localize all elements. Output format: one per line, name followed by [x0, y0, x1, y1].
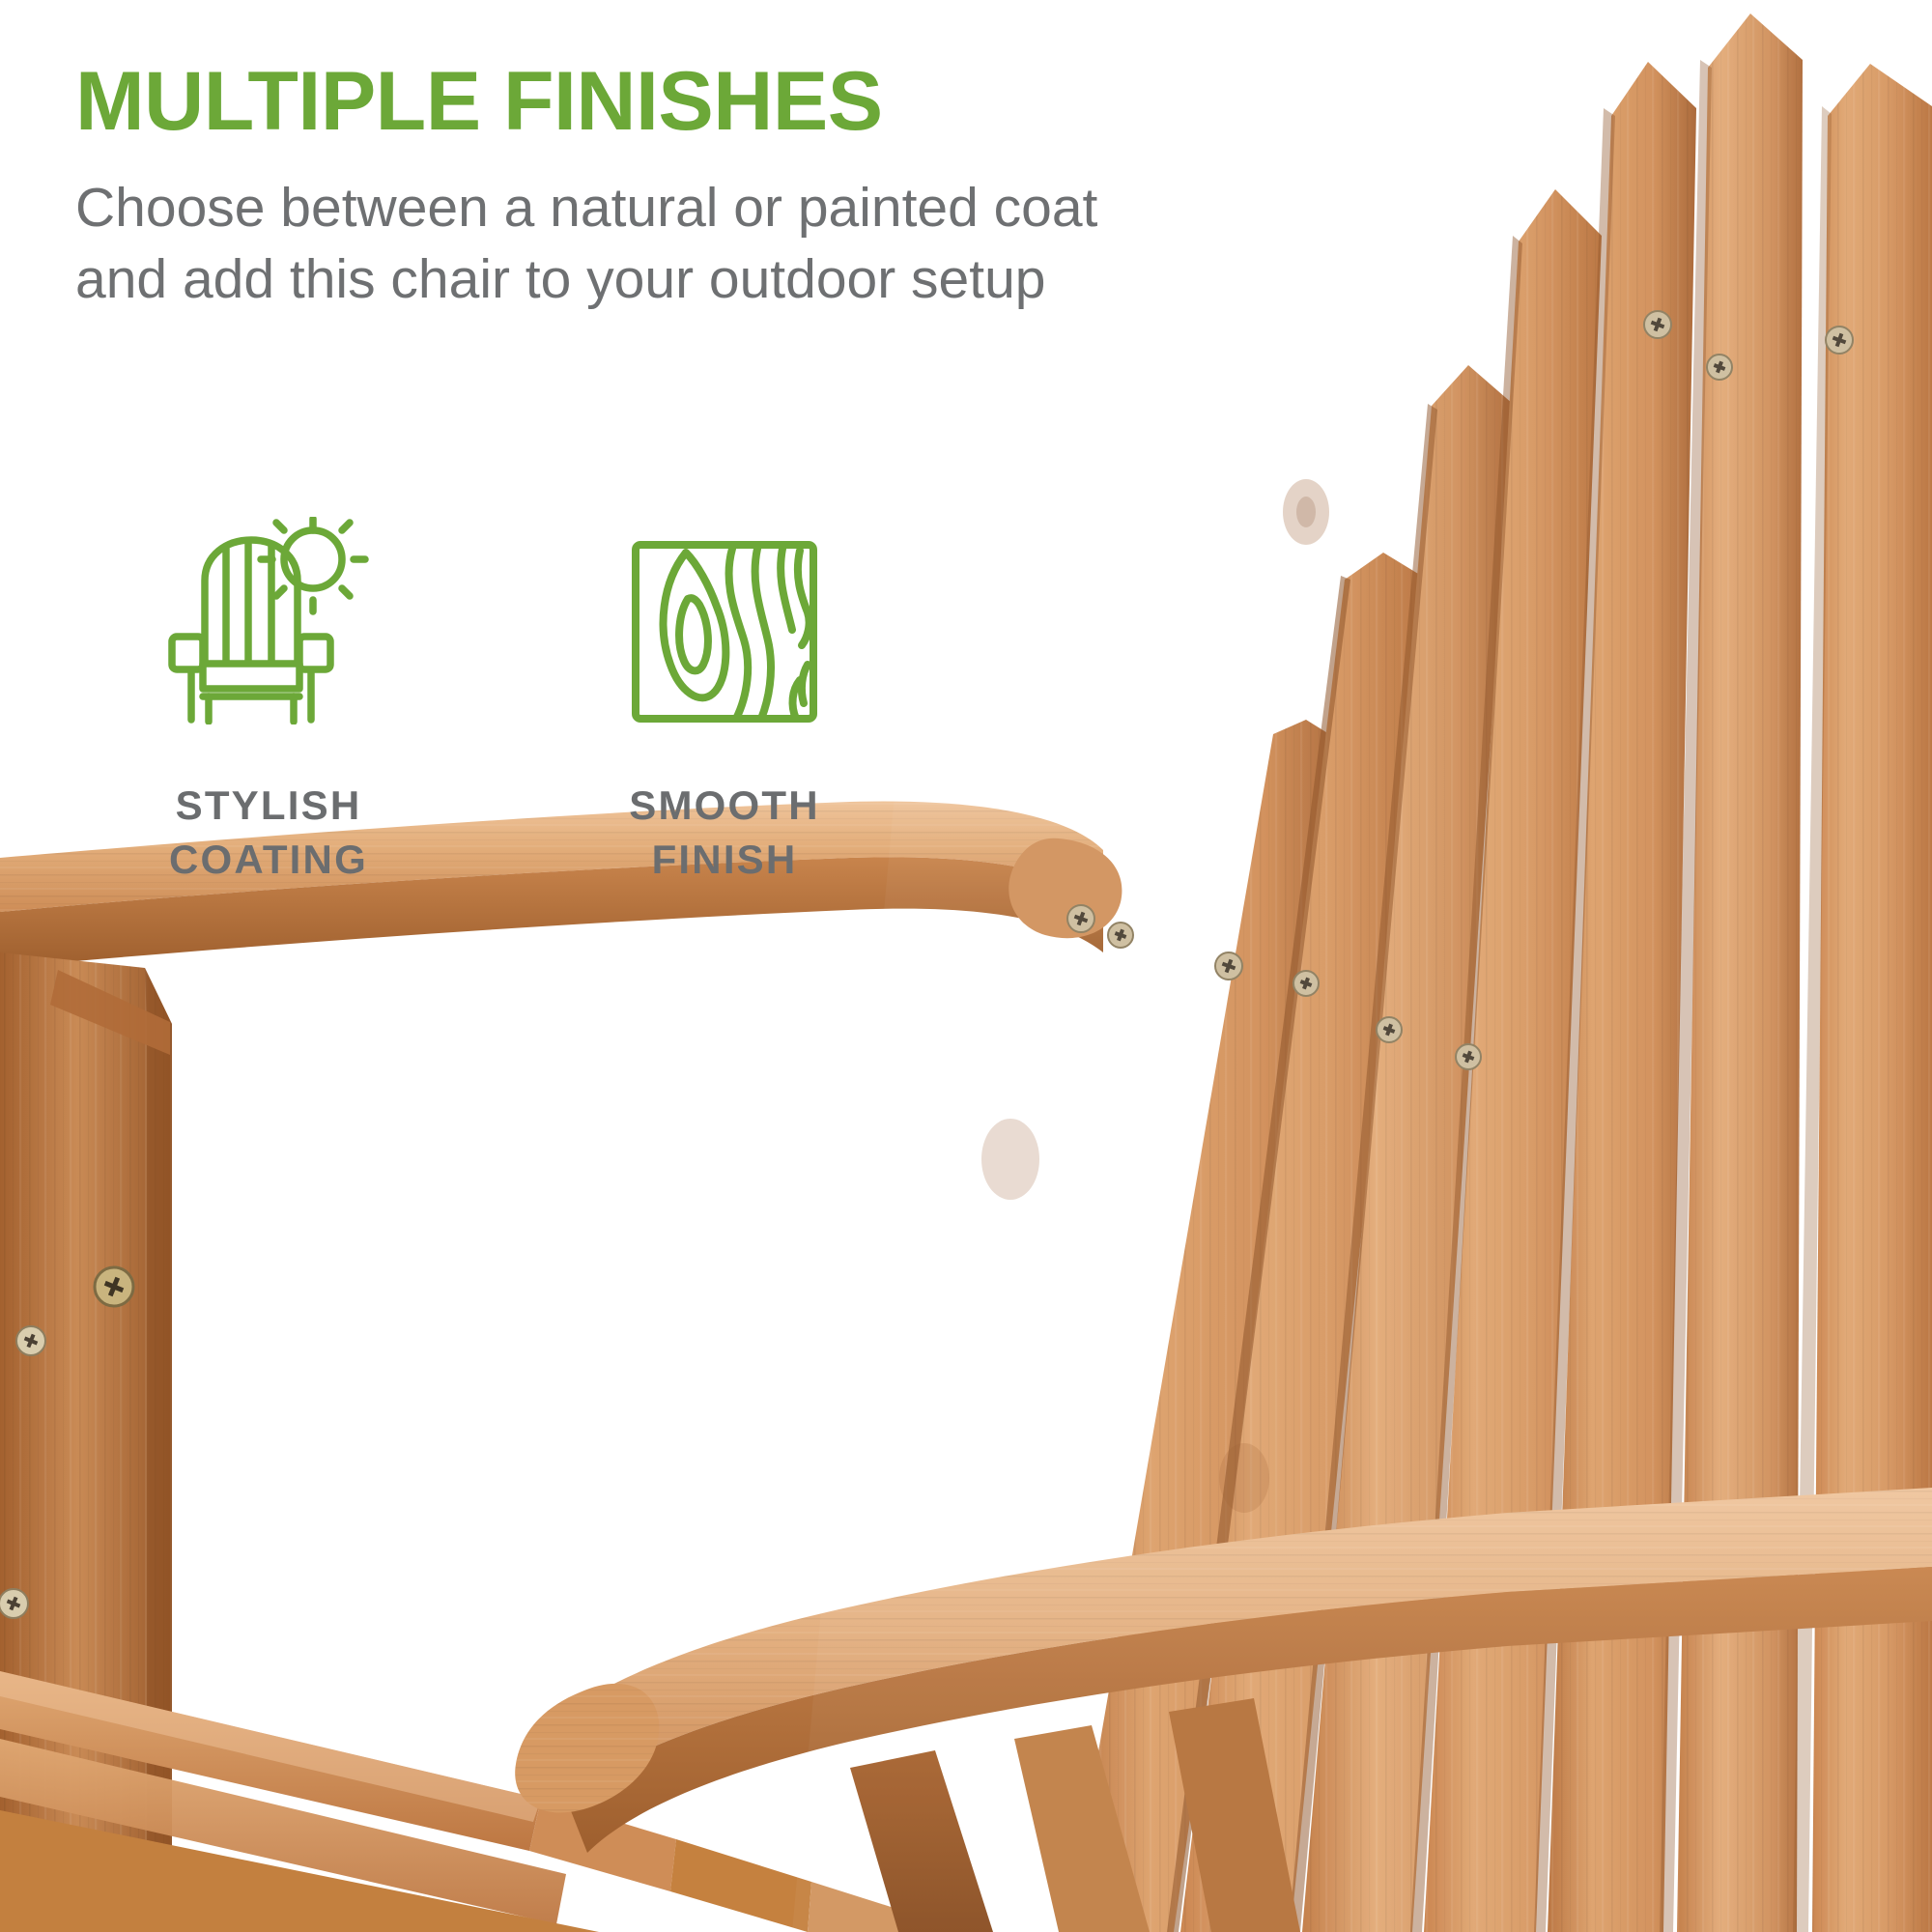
subtitle: Choose between a natural or painted coat…	[75, 172, 1254, 315]
copy-block: MULTIPLE FINISHES Choose between a natur…	[75, 60, 1254, 315]
adirondack-chair-sun-icon	[162, 502, 375, 724]
wood-grain-icon	[628, 502, 821, 724]
front-leg-support	[0, 952, 172, 1932]
page-title: MULTIPLE FINISHES	[75, 60, 1254, 145]
feature-label: SMOOTH FINISH	[629, 779, 820, 887]
feature-item-stylish-coating: STYLISH COATING	[75, 502, 462, 887]
rear-leg-and-rail	[850, 1698, 1300, 1932]
marketing-image: MULTIPLE FINISHES Choose between a natur…	[0, 0, 1932, 1932]
lower-armrest	[515, 1488, 1932, 1853]
wood-knots	[981, 479, 1329, 1513]
seat-slats	[0, 1671, 927, 1932]
feature-label: STYLISH COATING	[169, 779, 368, 887]
feature-item-smooth-finish: SMOOTH FINISH	[531, 502, 918, 887]
feature-list: STYLISH COATING SMOOTH FI	[75, 502, 918, 887]
